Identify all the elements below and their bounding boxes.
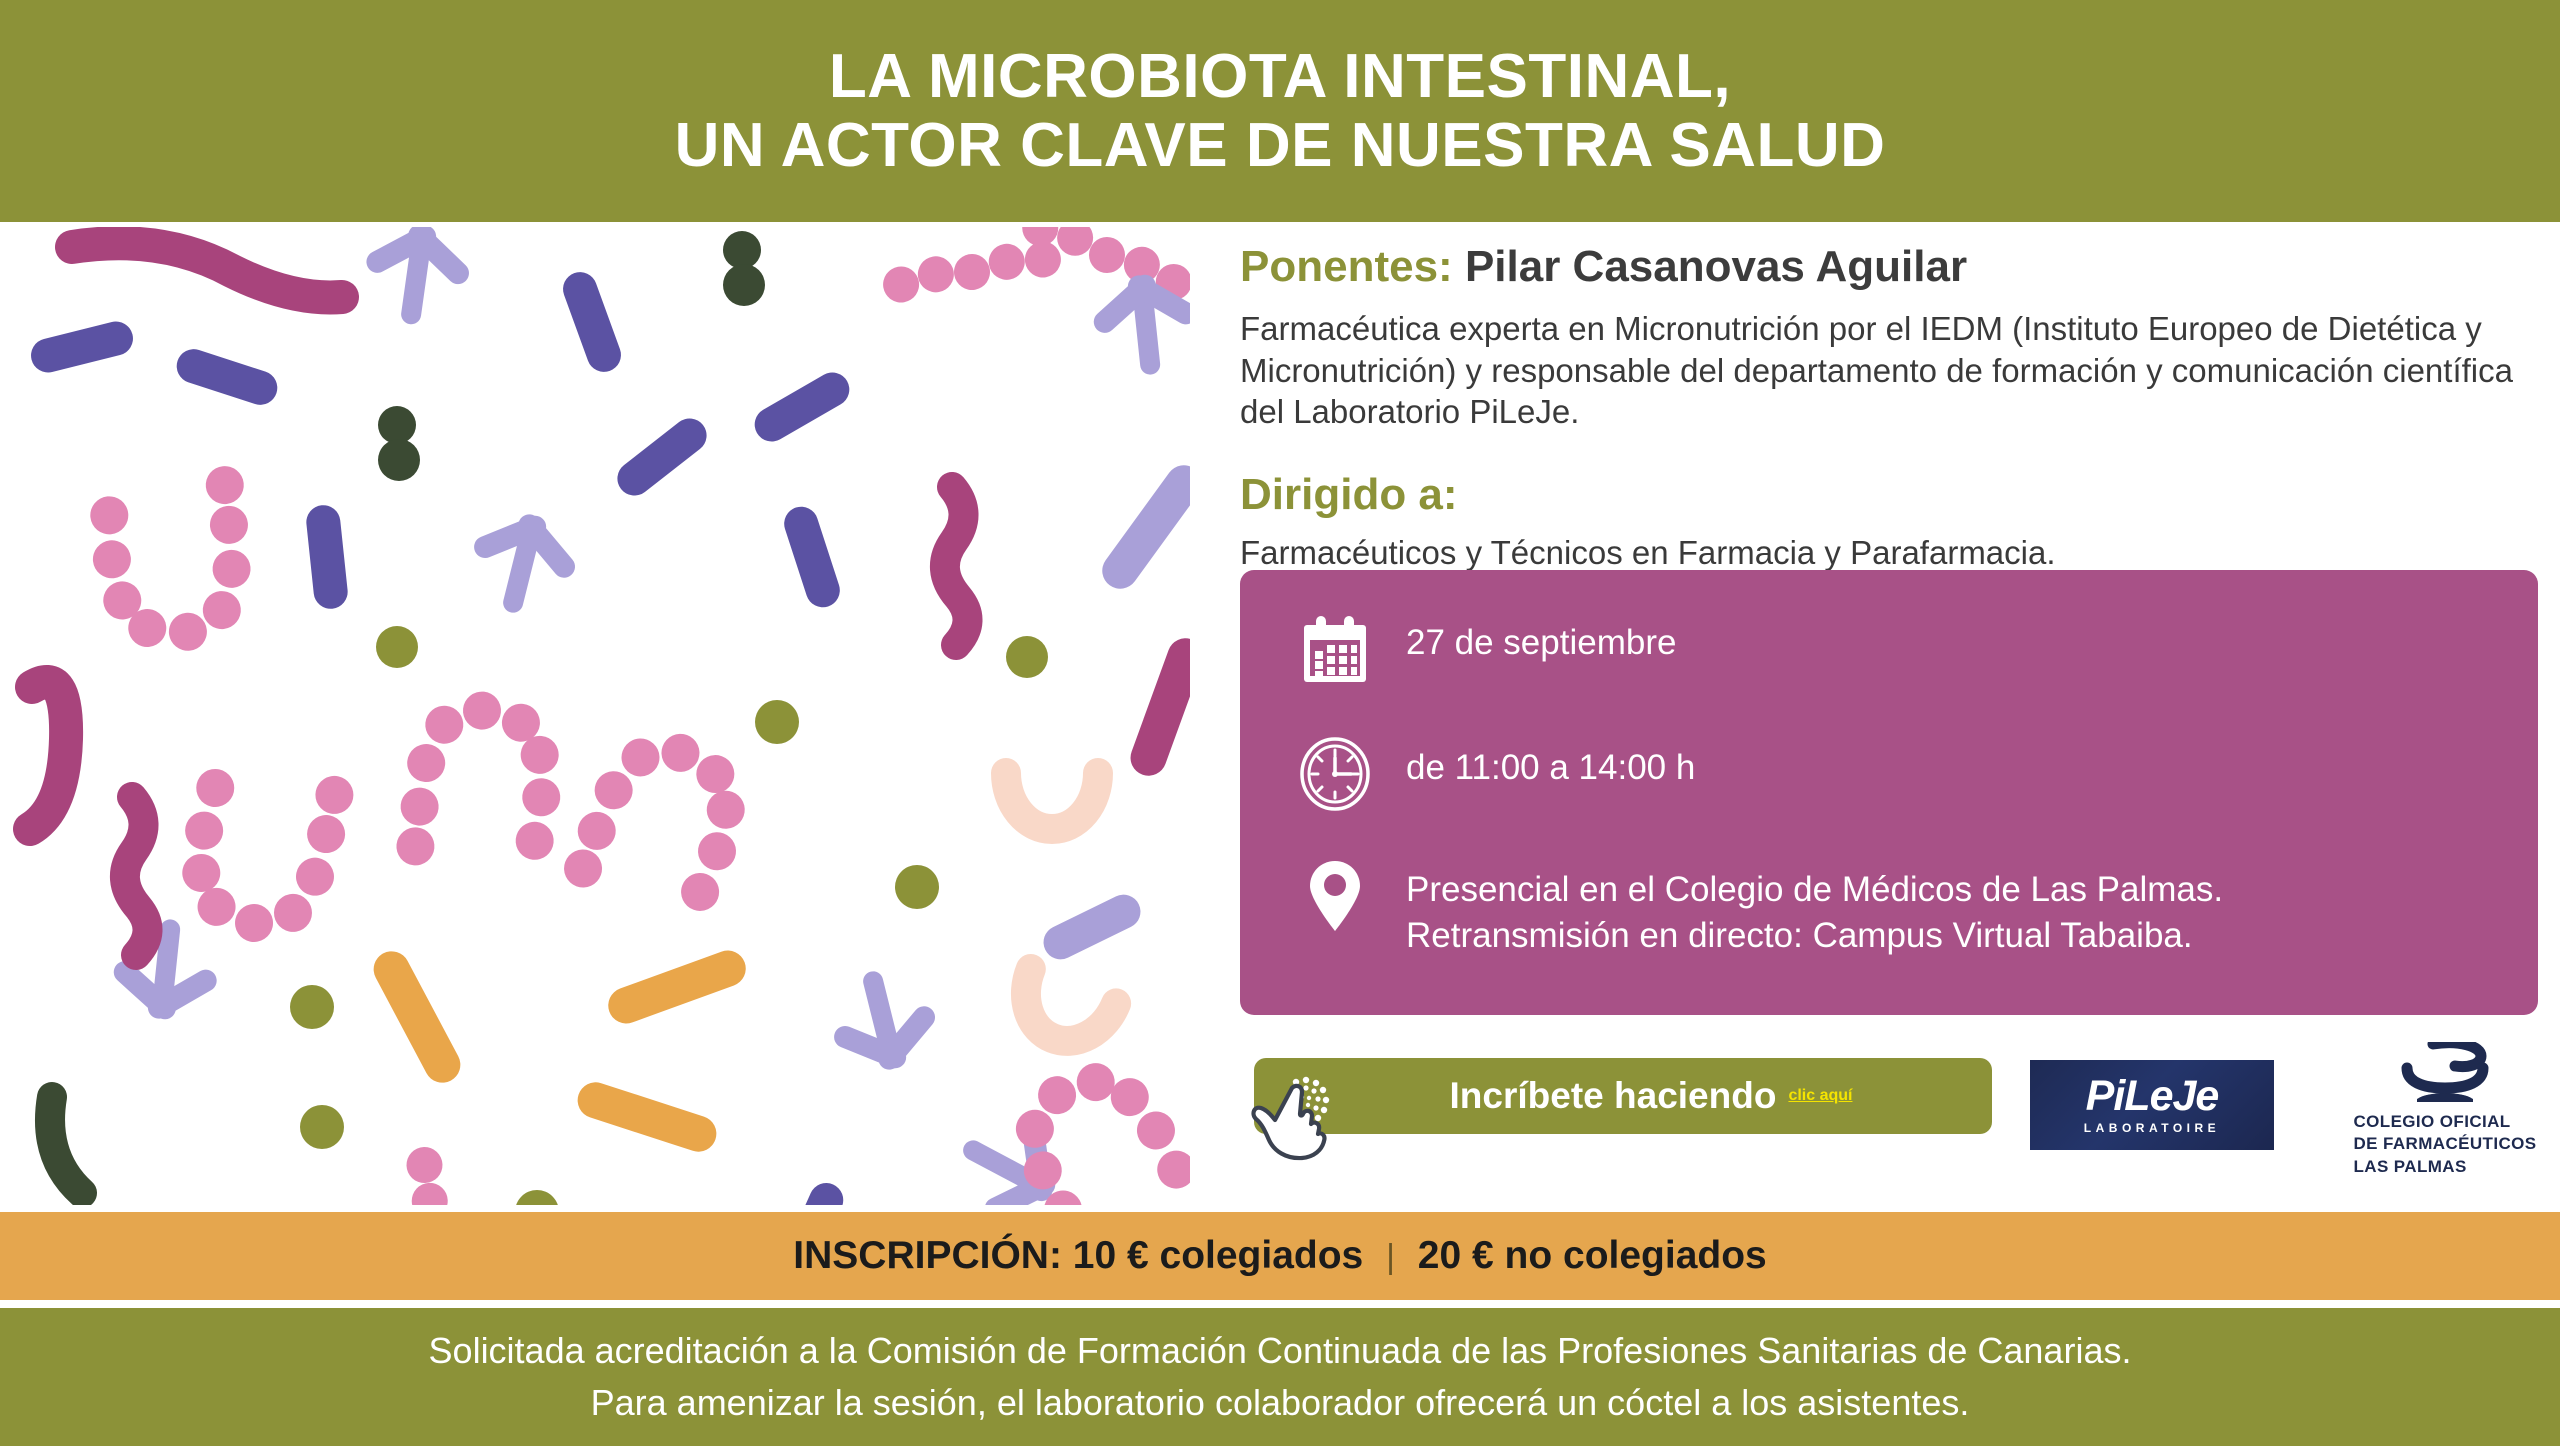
footer-line2: Para amenizar la sesión, el laboratorio … <box>591 1377 1970 1429</box>
logo-strip: PiLeJe LABORATOIRE COLEGIO OFICIAL DE FA… <box>2030 1042 2550 1182</box>
colegio-logo-line3: LAS PALMAS <box>2353 1156 2536 1178</box>
microbiota-pattern-svg <box>12 227 1190 1205</box>
event-date-text: 27 de septiembre <box>1406 610 1676 666</box>
footer-line1: Solicitada acreditación a la Comisión de… <box>429 1325 2132 1377</box>
event-info-card: 27 de septiembre <box>1240 570 2538 1015</box>
colegio-logo-text: COLEGIO OFICIAL DE FARMACÉUTICOS LAS PAL… <box>2353 1111 2536 1178</box>
colegio-farmaceuticos-logo: COLEGIO OFICIAL DE FARMACÉUTICOS LAS PAL… <box>2330 1042 2560 1182</box>
event-location-line1: Presencial en el Colegio de Médicos de L… <box>1406 870 2223 909</box>
main-content: Ponentes: Pilar Casanovas Aguilar Farmac… <box>0 222 2560 1210</box>
pileje-logo-name: PiLeJe <box>2086 1075 2219 1118</box>
register-button[interactable]: Incríbete haciendo clic aquí <box>1254 1058 1992 1134</box>
page-title-line1: LA MICROBIOTA INTESTINAL, <box>829 42 1731 111</box>
footer-banner: Solicitada acreditación a la Comisión de… <box>0 1308 2560 1446</box>
colegio-logo-line1: COLEGIO OFICIAL <box>2353 1111 2536 1133</box>
event-location-row: Presencial en el Colegio de Médicos de L… <box>1298 857 2223 958</box>
price-band: INSCRIPCIÓN: 10 € colegiados | 20 € no c… <box>0 1212 2560 1300</box>
event-time-text: de 11:00 a 14:00 h <box>1406 735 1695 791</box>
colegio-logo-line2: DE FARMACÉUTICOS <box>2353 1133 2536 1155</box>
cta-area: Incríbete haciendo clic aquí <box>1240 1052 2000 1162</box>
price-colegiados: INSCRIPCIÓN: 10 € colegiados <box>793 1234 1363 1277</box>
register-link[interactable]: clic aquí <box>1788 1087 1852 1105</box>
event-location-line2: Retransmisión en directo: Campus Virtual… <box>1406 913 2223 959</box>
clock-icon <box>1298 735 1372 813</box>
event-date-row: 27 de septiembre <box>1298 610 1676 688</box>
speakers-heading: Ponentes: Pilar Casanovas Aguilar <box>1240 244 1967 290</box>
event-time-row: de 11:00 a 14:00 h <box>1298 735 1695 813</box>
pileje-logo: PiLeJe LABORATOIRE <box>2030 1060 2274 1150</box>
audience-title: Dirigido a: <box>1240 470 1458 520</box>
calendar-icon <box>1298 610 1372 688</box>
price-no-colegiados: 20 € no colegiados <box>1418 1234 1767 1277</box>
audience-text: Farmacéuticos y Técnicos en Farmacia y P… <box>1240 532 2056 574</box>
location-pin-icon <box>1298 857 1372 935</box>
event-location-text: Presencial en el Colegio de Médicos de L… <box>1406 857 2223 958</box>
speaker-name: Pilar Casanovas Aguilar <box>1465 242 1967 291</box>
speakers-label: Ponentes: <box>1240 242 1453 291</box>
price-text: INSCRIPCIÓN: 10 € colegiados | 20 € no c… <box>793 1234 1766 1278</box>
price-separator: | <box>1386 1238 1395 1276</box>
pileje-logo-subtitle: LABORATOIRE <box>2084 1121 2220 1135</box>
microbiota-illustration <box>12 227 1190 1205</box>
pharmacy-cup-icon <box>2389 1042 2501 1104</box>
details-column: Ponentes: Pilar Casanovas Aguilar Farmac… <box>1240 222 2540 1210</box>
register-button-label: Incríbete haciendo <box>1450 1075 1777 1117</box>
speaker-bio: Farmacéutica experta en Micronutrición p… <box>1240 308 2542 433</box>
header-banner: LA MICROBIOTA INTESTINAL, UN ACTOR CLAVE… <box>0 0 2560 222</box>
page-title-line2: UN ACTOR CLAVE DE NUESTRA SALUD <box>675 111 1886 180</box>
